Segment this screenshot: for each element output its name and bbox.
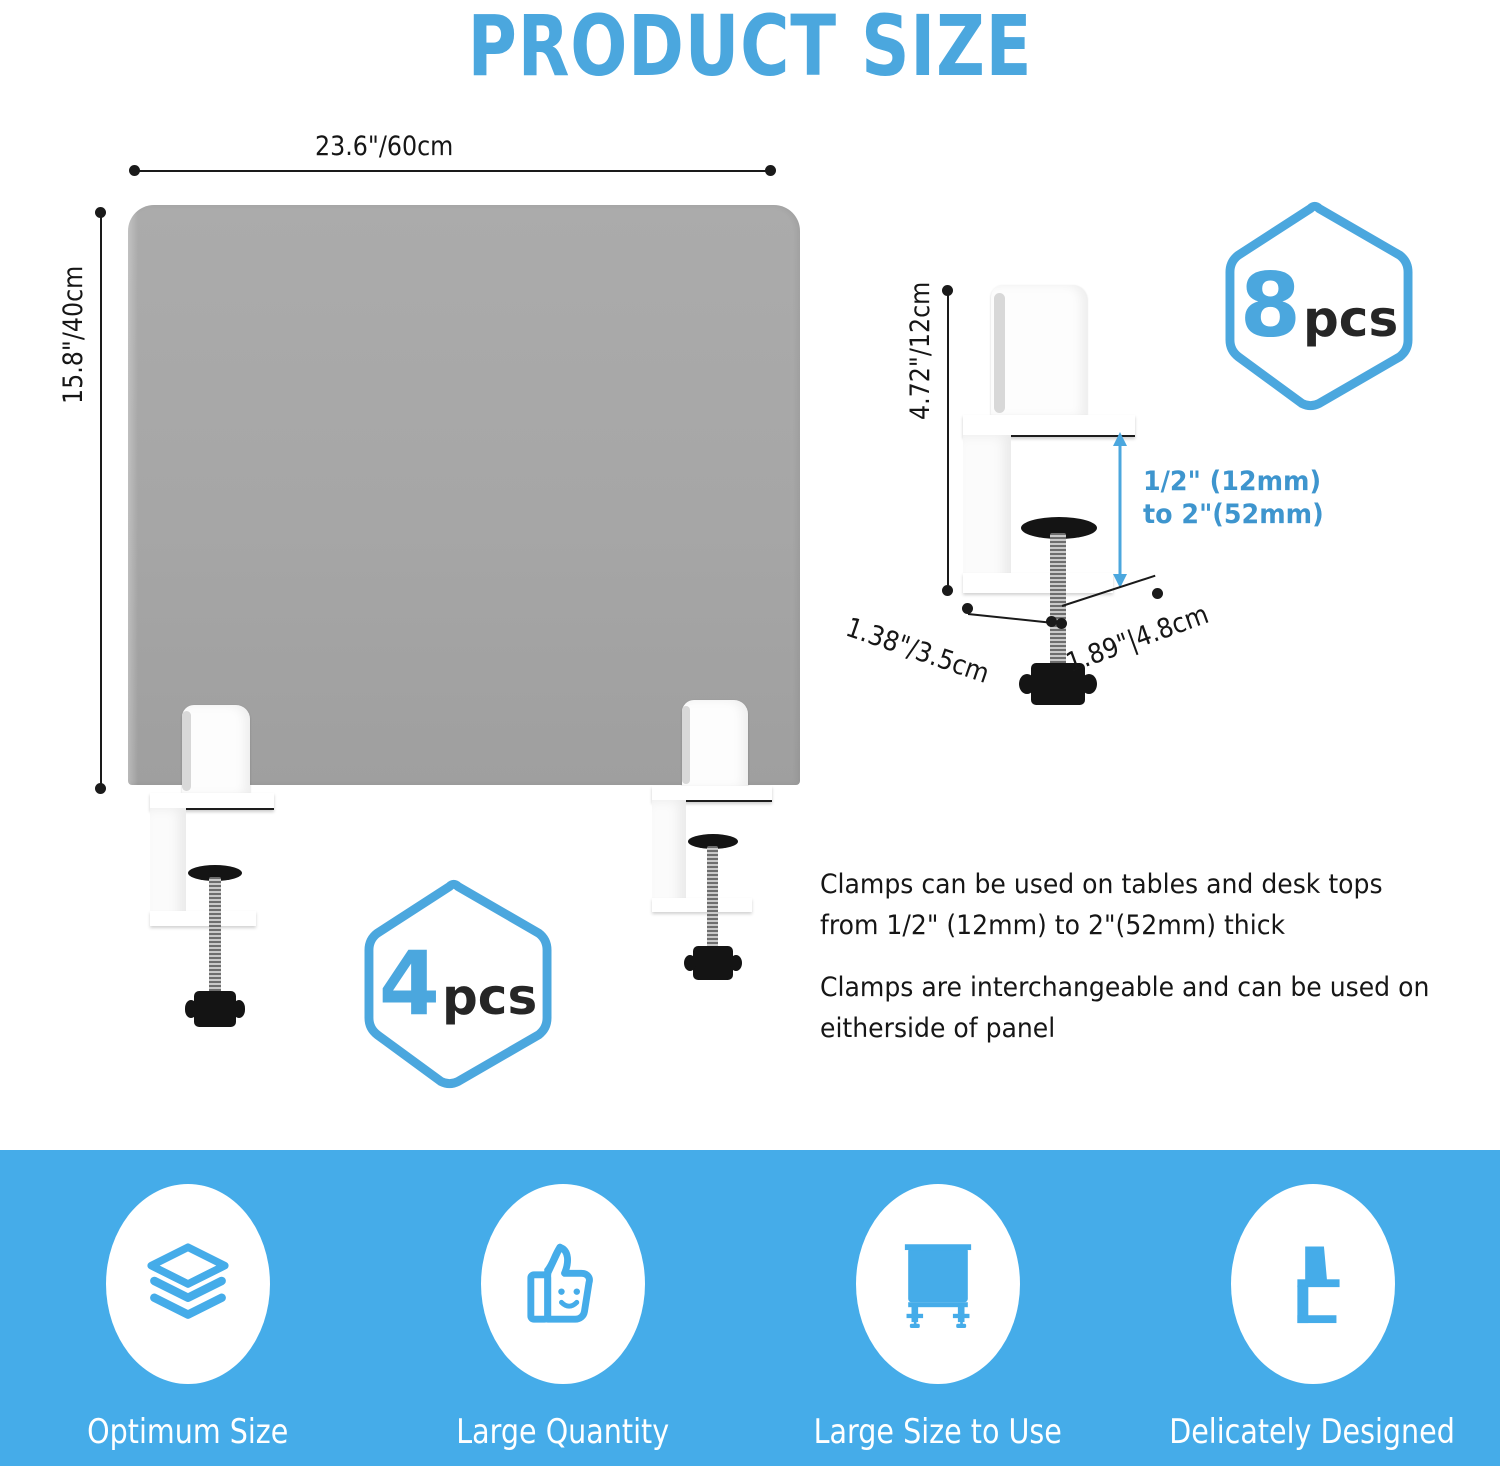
clamp-width-dot-right xyxy=(1152,588,1163,599)
clamp-height-label: 4.72"/12cm xyxy=(905,282,936,420)
clamp-holder-slot xyxy=(994,293,1005,413)
feature-icon-bubble xyxy=(1231,1184,1395,1384)
feature-label: Large Size to Use xyxy=(813,1412,1061,1452)
thumbs-up-icon xyxy=(514,1235,612,1333)
clamp-height-dot-bottom xyxy=(942,585,953,596)
note-thickness: Clamps can be used on tables and desk to… xyxy=(820,865,1434,946)
badge-number: 8 xyxy=(1240,262,1301,350)
clamp-height-dimension-line xyxy=(947,290,949,590)
width-dim-dot-right xyxy=(765,165,776,176)
feature-label: Large Quantity xyxy=(456,1412,669,1452)
feature-delicately-designed: Delicately Designed xyxy=(1133,1184,1493,1452)
badge-bracket-count: 4 pcs xyxy=(352,878,564,1090)
clamp-holder-slot xyxy=(182,711,191,791)
clamp-lower-jaw xyxy=(652,898,752,912)
clamp-lower-jaw xyxy=(150,911,256,926)
product-illustration: 23.6"/60cm 15.8"/40cm 4.72"/12cm xyxy=(0,0,1500,1150)
panel-clamp-left xyxy=(136,705,296,1050)
note-interchangeable: Clamps are interchangeable and can be us… xyxy=(820,968,1434,1049)
clamp-holder xyxy=(991,285,1087,417)
desk-panel-icon xyxy=(885,1231,991,1337)
clamp-screw xyxy=(707,846,718,954)
feature-large-size-to-use: Large Size to Use xyxy=(758,1184,1118,1452)
width-dimension-line xyxy=(134,170,770,172)
feature-icon-bubble xyxy=(106,1184,270,1384)
feature-large-quantity: Large Quantity xyxy=(383,1184,743,1452)
layers-icon xyxy=(139,1235,237,1333)
height-dim-dot-top xyxy=(95,207,106,218)
feature-icon-bubble xyxy=(481,1184,645,1384)
panel-width-label: 23.6"/60cm xyxy=(315,131,453,162)
clamp-body xyxy=(963,435,1011,590)
clamp-width-dot-left xyxy=(1056,618,1067,629)
clamp-body xyxy=(652,800,686,912)
clamp-holder xyxy=(682,700,748,788)
clamp-icon xyxy=(1263,1234,1363,1334)
width-dim-dot-left xyxy=(129,165,140,176)
badge-unit: pcs xyxy=(1303,294,1398,344)
feature-bar: Optimum Size Large Quantity xyxy=(0,1150,1500,1466)
clamp-height-dot-top xyxy=(942,285,953,296)
feature-label: Delicately Designed xyxy=(1170,1412,1456,1452)
badge-unit: pcs xyxy=(442,972,537,1022)
clamp-holder-slot xyxy=(682,706,690,784)
feature-icon-bubble xyxy=(856,1184,1020,1384)
badge-number: 4 xyxy=(379,940,440,1028)
privacy-panel xyxy=(128,205,800,785)
badge-clamp-count: 8 pcs xyxy=(1213,200,1425,412)
clamp-screw xyxy=(209,877,221,999)
clamp-knob xyxy=(693,946,733,980)
panel-height-label: 15.8"/40cm xyxy=(58,266,89,404)
feature-optimum-size: Optimum Size xyxy=(8,1184,368,1452)
panel-clamp-right xyxy=(640,700,800,1045)
feature-label: Optimum Size xyxy=(87,1412,288,1452)
height-dim-dot-bottom xyxy=(95,783,106,794)
clamp-depth-dot-left xyxy=(962,603,973,614)
thickness-range-arrow xyxy=(1105,430,1135,590)
height-dimension-line xyxy=(100,212,102,788)
thickness-range-label: 1/2" (12mm) to 2"(52mm) xyxy=(1143,466,1324,532)
clamp-holder xyxy=(182,705,250,795)
clamp-notes: Clamps can be used on tables and desk to… xyxy=(820,865,1480,1071)
clamp-lower-jaw xyxy=(963,573,1113,593)
clamp-body xyxy=(150,808,186,926)
clamp-knob xyxy=(194,991,236,1027)
